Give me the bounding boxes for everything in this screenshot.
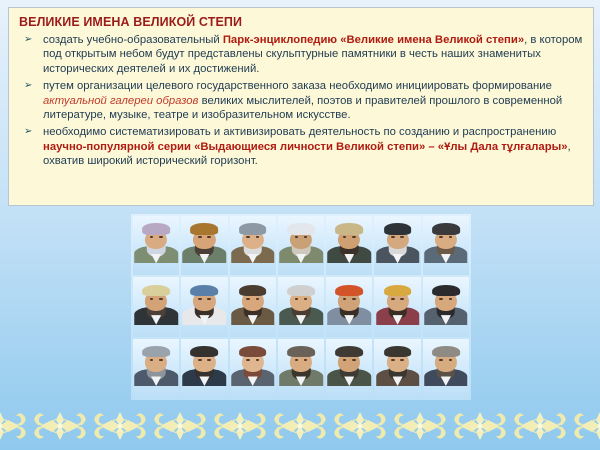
portrait-headwear <box>384 346 412 357</box>
portrait-eye-right <box>159 298 163 300</box>
portrait-card <box>133 339 179 398</box>
portrait-eye-right <box>400 359 404 361</box>
portrait-eye-left <box>198 298 202 300</box>
portrait-figure <box>230 281 276 324</box>
portrait-caption <box>328 264 370 274</box>
portrait-figure <box>423 220 469 263</box>
portrait-card <box>423 339 469 398</box>
portrait-eye-left <box>295 359 299 361</box>
portrait-eye-left <box>391 359 395 361</box>
portrait-figure <box>423 343 469 386</box>
portrait-eye-left <box>295 298 299 300</box>
portrait-headwear <box>239 285 267 296</box>
body-text-run: путем организации целевого государственн… <box>43 80 552 92</box>
portrait-figure <box>133 343 179 386</box>
arrow-bullet-icon: ➢ <box>24 33 32 48</box>
portrait-card <box>326 277 372 336</box>
portrait-card <box>181 216 227 275</box>
portrait-card <box>374 339 420 398</box>
portrait-headwear <box>384 223 412 234</box>
portrait-card <box>374 277 420 336</box>
portrait-headwear <box>287 223 315 234</box>
portrait-headwear <box>142 223 170 234</box>
portrait-caption <box>376 264 418 274</box>
portrait-figure <box>278 220 324 263</box>
bullet-text-1: создать учебно-образовательный Парк-энци… <box>43 34 582 75</box>
portrait-headwear <box>432 223 460 234</box>
arrow-bullet-icon: ➢ <box>24 79 32 94</box>
bullet-text-3: необходимо систематизировать и активизир… <box>43 126 571 167</box>
portrait-headwear <box>142 285 170 296</box>
portrait-card <box>278 339 324 398</box>
portrait-caption <box>183 264 225 274</box>
portrait-figure <box>326 220 372 263</box>
portrait-caption <box>425 387 467 397</box>
portrait-eye-right <box>449 359 453 361</box>
portrait-headwear <box>335 346 363 357</box>
body-text-run: создать учебно-образовательный <box>43 34 223 46</box>
portrait-card <box>326 339 372 398</box>
portrait-headwear <box>239 223 267 234</box>
emphasis-phrase: научно-популярной серии «Выдающиеся личн… <box>43 141 568 153</box>
portrait-eye-left <box>150 359 154 361</box>
portrait-caption <box>425 326 467 336</box>
portrait-headwear <box>384 285 412 296</box>
bullet-item-1: ➢ создать учебно-образовательный Парк-эн… <box>16 33 586 76</box>
portrait-eye-right <box>352 298 356 300</box>
portrait-card <box>133 216 179 275</box>
portrait-figure <box>326 343 372 386</box>
portrait-figure <box>133 220 179 263</box>
portrait-headwear <box>335 285 363 296</box>
portrait-eye-right <box>352 359 356 361</box>
portrait-caption <box>232 326 274 336</box>
portrait-headwear <box>432 346 460 357</box>
portrait-headwear <box>142 346 170 357</box>
portrait-headwear <box>191 285 219 296</box>
portrait-figure <box>181 343 227 386</box>
arrow-bullet-icon: ➢ <box>24 125 32 140</box>
emphasis-phrase: Парк-энциклопедию «Великие имена Великой… <box>223 34 524 46</box>
portrait-caption <box>135 264 177 274</box>
portrait-figure <box>326 281 372 324</box>
portrait-card <box>423 216 469 275</box>
portrait-caption <box>135 326 177 336</box>
body-text-run: необходимо систематизировать и активизир… <box>43 126 556 138</box>
portrait-headwear <box>191 346 219 357</box>
portrait-eye-left <box>343 298 347 300</box>
portrait-caption <box>328 326 370 336</box>
portrait-eye-left <box>150 298 154 300</box>
portrait-eye-left <box>439 359 443 361</box>
bullet-item-3: ➢ необходимо систематизировать и активиз… <box>16 125 586 168</box>
bullet-list: ➢ создать учебно-образовательный Парк-эн… <box>16 33 586 169</box>
portrait-caption <box>280 326 322 336</box>
slide: ВЕЛИКИЕ ИМЕНА ВЕЛИКОЙ СТЕПИ ➢ создать уч… <box>0 0 600 450</box>
portrait-caption <box>425 264 467 274</box>
portrait-card <box>230 216 276 275</box>
portrait-figure <box>181 220 227 263</box>
emphasis-phrase-italic: актуальной галереи образов <box>43 95 198 107</box>
portrait-eye-right <box>159 359 163 361</box>
portrait-figure <box>374 220 420 263</box>
portrait-eye-right <box>256 359 260 361</box>
portrait-figure <box>374 281 420 324</box>
portrait-headwear <box>432 285 460 296</box>
portrait-card <box>326 216 372 275</box>
portrait-card <box>181 339 227 398</box>
portrait-caption <box>135 387 177 397</box>
portrait-card <box>278 277 324 336</box>
portrait-figure <box>133 281 179 324</box>
portrait-caption <box>280 264 322 274</box>
portrait-gallery <box>131 214 471 400</box>
portrait-eye-left <box>439 298 443 300</box>
portrait-card <box>374 216 420 275</box>
portrait-eye-right <box>449 298 453 300</box>
ornament-band <box>0 402 600 450</box>
portrait-card <box>230 339 276 398</box>
portrait-eye-left <box>391 298 395 300</box>
portrait-eye-left <box>198 359 202 361</box>
portrait-figure <box>423 281 469 324</box>
portrait-headwear <box>191 223 219 234</box>
portrait-headwear <box>287 346 315 357</box>
portrait-caption <box>376 387 418 397</box>
portrait-caption <box>376 326 418 336</box>
portrait-figure <box>278 281 324 324</box>
portrait-caption <box>183 387 225 397</box>
bullet-item-2: ➢ путем организации целевого государстве… <box>16 79 586 122</box>
portrait-card <box>181 277 227 336</box>
portrait-figure <box>278 343 324 386</box>
portrait-headwear <box>335 223 363 234</box>
portrait-figure <box>181 281 227 324</box>
portrait-card <box>230 277 276 336</box>
portrait-caption <box>232 264 274 274</box>
portrait-caption <box>280 387 322 397</box>
portrait-eye-left <box>246 298 250 300</box>
portrait-eye-right <box>400 298 404 300</box>
portrait-caption <box>328 387 370 397</box>
portrait-card <box>133 277 179 336</box>
portrait-headwear <box>287 285 315 296</box>
portrait-eye-right <box>207 298 211 300</box>
page-title: ВЕЛИКИЕ ИМЕНА ВЕЛИКОЙ СТЕПИ <box>19 14 586 30</box>
portrait-figure <box>230 343 276 386</box>
portrait-caption <box>232 387 274 397</box>
bullet-text-2: путем организации целевого государственн… <box>43 80 562 121</box>
kazakh-ornament-icon <box>0 402 600 450</box>
portrait-figure <box>230 220 276 263</box>
portrait-eye-right <box>207 359 211 361</box>
portrait-card <box>423 277 469 336</box>
portrait-figure <box>374 343 420 386</box>
portrait-eye-left <box>246 359 250 361</box>
portrait-caption <box>183 326 225 336</box>
content-card: ВЕЛИКИЕ ИМЕНА ВЕЛИКОЙ СТЕПИ ➢ создать уч… <box>8 7 594 206</box>
portrait-card <box>278 216 324 275</box>
portrait-headwear <box>239 346 267 357</box>
portrait-eye-right <box>256 298 260 300</box>
